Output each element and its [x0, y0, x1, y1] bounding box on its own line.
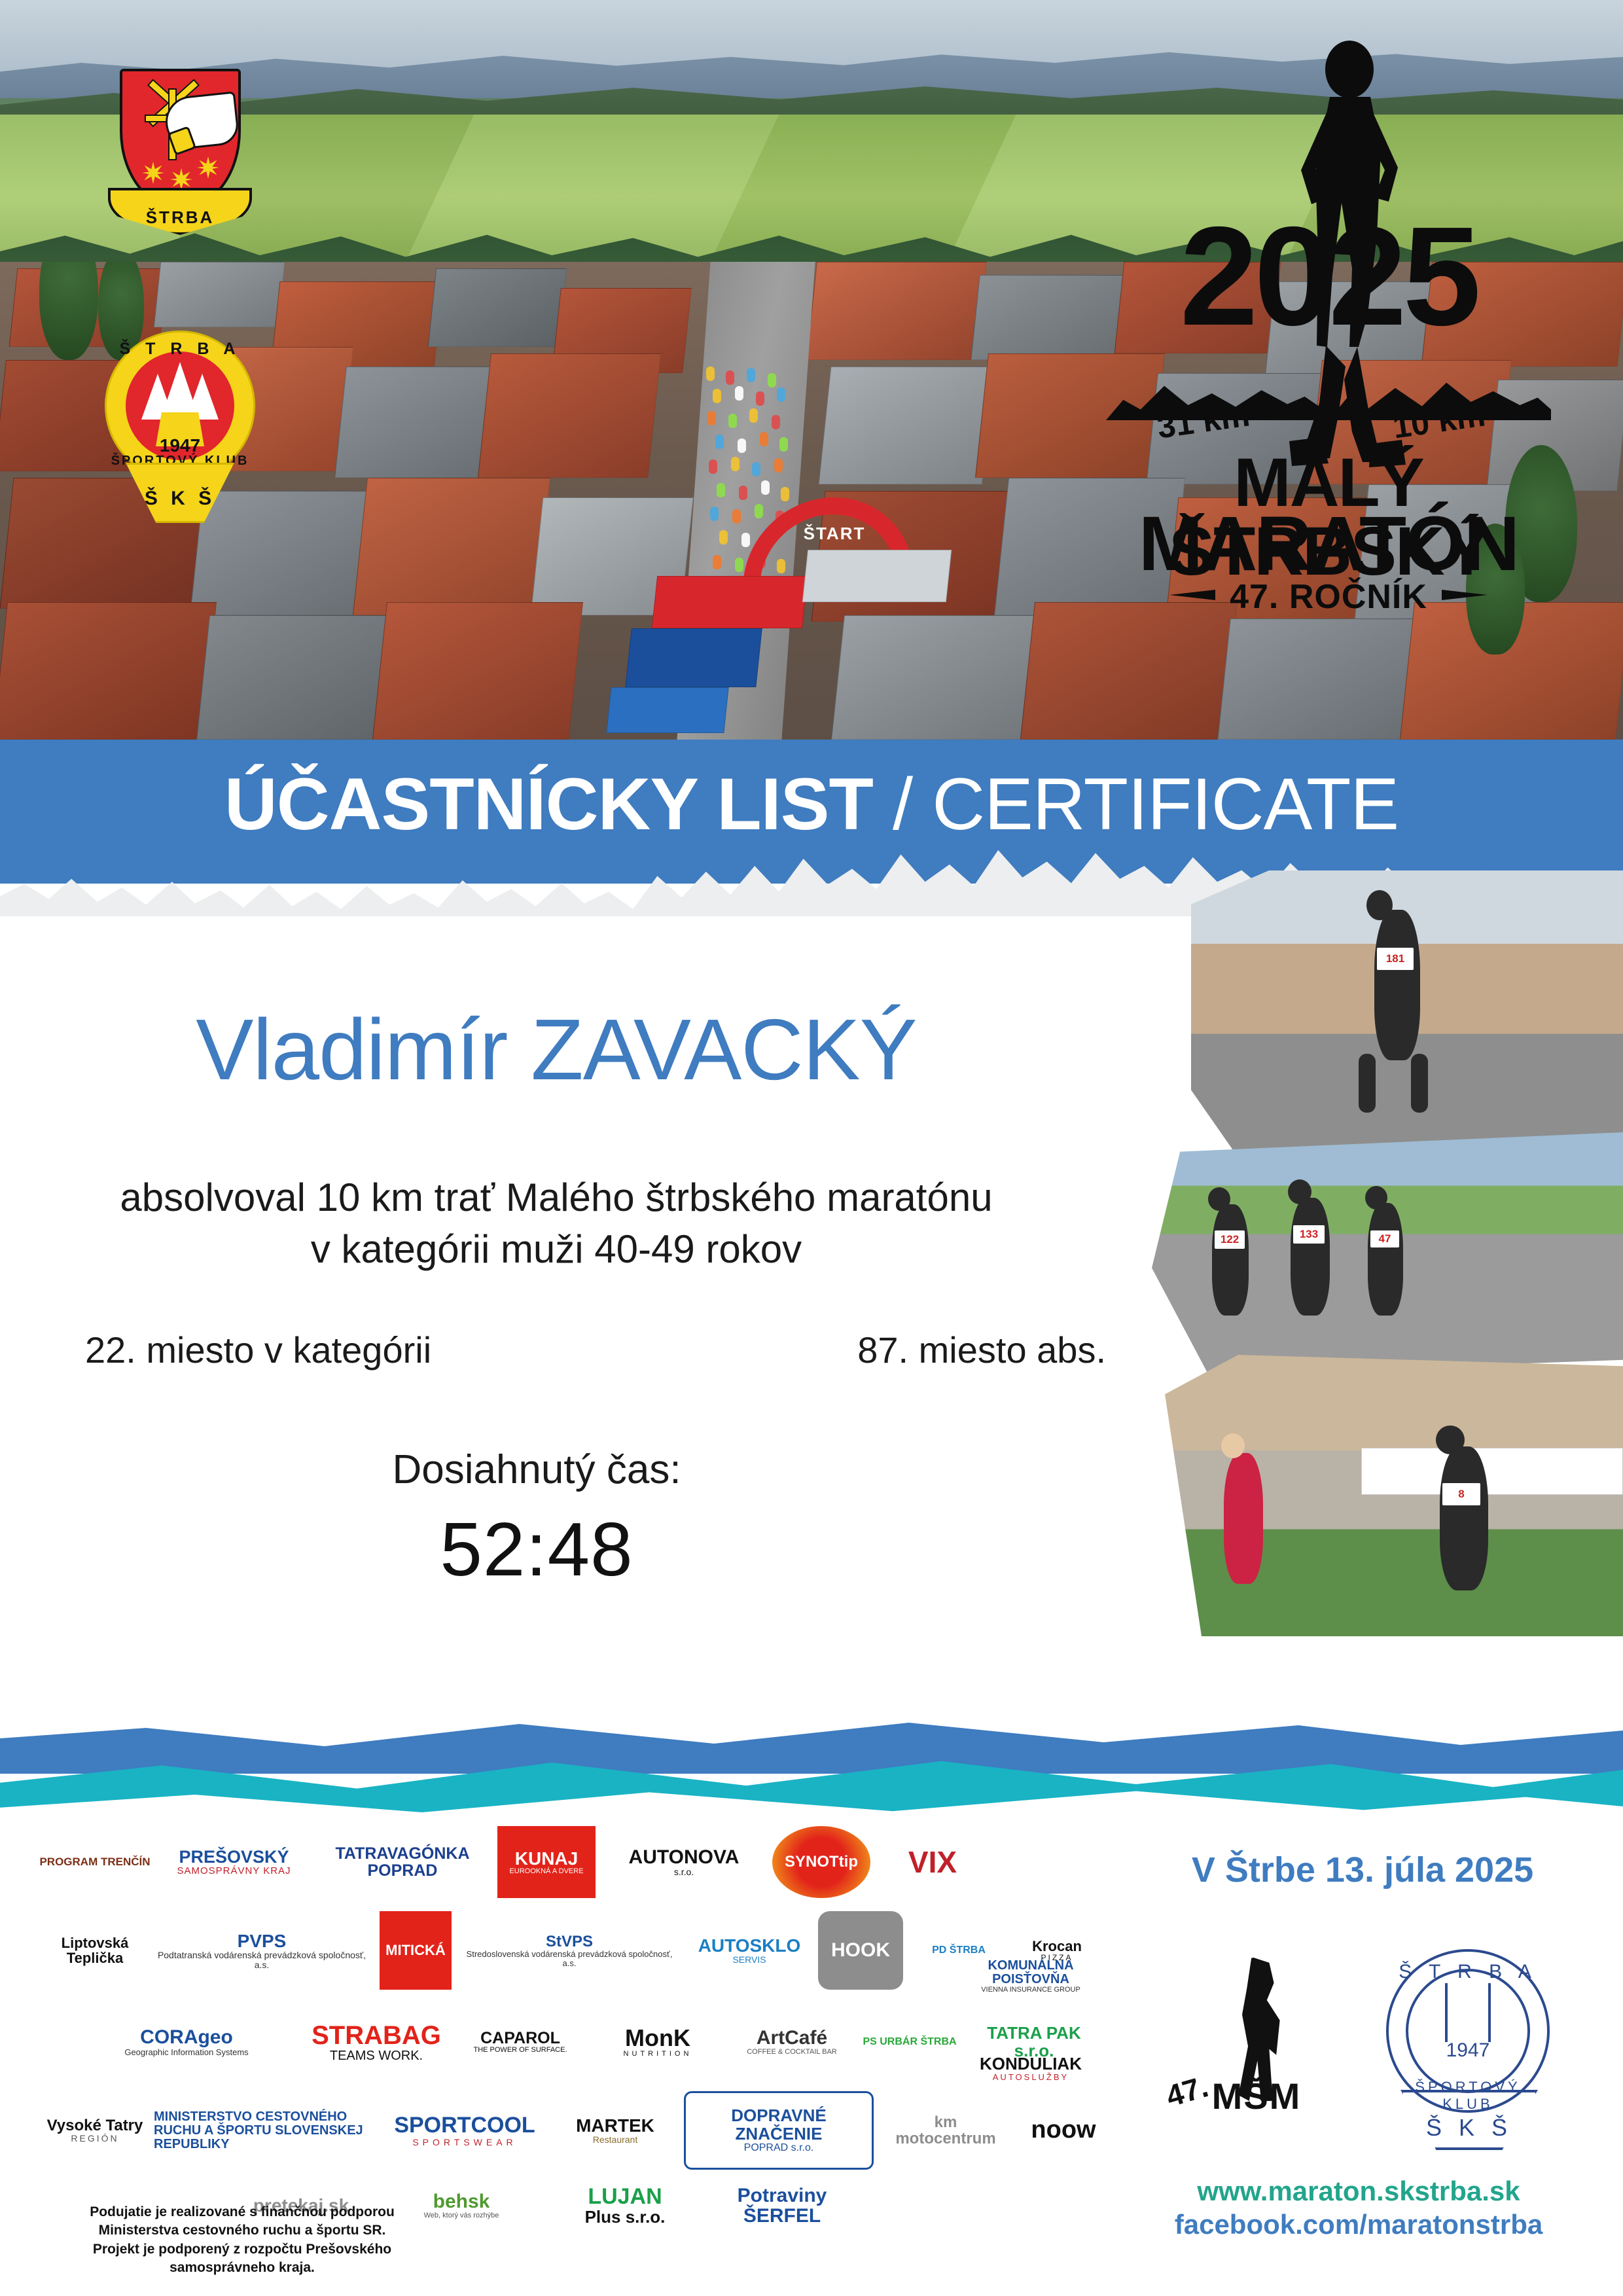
description-line-2: v kategórii muži 40-49 rokov	[0, 1223, 1113, 1275]
sponsor-logo: Vysoké Tatry REGIÓN	[39, 2091, 151, 2170]
sponsor-logo: LUJAN Plus s.r.o.	[556, 2176, 694, 2235]
title-banner: ÚČASTNÍCKY LIST / CERTIFICATE	[0, 740, 1623, 884]
sponsor-logo: STRABAG TEAMS WORK.	[301, 2003, 452, 2081]
race-photo-collage: 181 122 133 47 8	[1152, 870, 1623, 1702]
fineprint-line-1: Podujatie je realizované s finančnou pod…	[39, 2203, 445, 2221]
sponsor-logo: SPORTCOOL SPORTSWEAR	[386, 2091, 543, 2170]
msm-emblem: 47. MŠM	[1158, 1950, 1355, 2147]
sponsor-logo: AUTONOVA s.r.o.	[605, 1826, 762, 1898]
photo-finish-female-runner: 181	[1191, 870, 1623, 1152]
sponsor-logo: CORAgeo Geographic Information Systems	[79, 2003, 294, 2081]
website-link[interactable]: www.maraton.skstrba.sk	[1136, 2174, 1581, 2208]
time-label: Dosiahnutý čas:	[0, 1446, 1073, 1493]
hero-photo-village-start: ŠTART ŠTRBA Š T R B A	[0, 0, 1623, 740]
achievement-description: absolvoval 10 km trať Malého štrbského m…	[0, 1172, 1113, 1275]
certificate-page: ŠTART ŠTRBA Š T R B A	[0, 0, 1623, 2296]
finish-time: 52:48	[0, 1505, 1073, 1593]
logo-edition: 47. ROČNÍK	[1099, 577, 1558, 617]
sponsor-logo: VIX	[883, 1826, 982, 1898]
sponsor-grid: PROGRAM TRENČÍN PREŠOVSKÝ SAMOSPRÁVNY KR…	[39, 1820, 1152, 2225]
strba-coat-of-arms: ŠTRBA	[108, 69, 252, 242]
description-line-1: absolvoval 10 km trať Malého štrbského m…	[0, 1172, 1113, 1223]
sponsor-logo: StVPS Stredoslovenská vodárenská prevádz…	[461, 1911, 677, 1990]
tent-red	[652, 576, 808, 628]
sponsor-logo: KONDULIAK AUTOSLUŽBY	[955, 2045, 1106, 2091]
fineprint-line-2: Ministerstva cestovného ruchu a športu S…	[39, 2221, 445, 2240]
sponsor-logo: AUTOSKLO SERVIS	[687, 1911, 811, 1990]
sponsor-logo: HOOK	[818, 1911, 903, 1990]
sponsor-logo: MARTEK Restaurant	[556, 2091, 674, 2170]
stamp-year: 1947	[1406, 2039, 1530, 2062]
coat-name-label: ŠTRBA	[108, 207, 252, 228]
sks-stamp-emblem: Š T R B A 1947 ŠPORTOVÝ KLUB Š K Š	[1374, 1943, 1564, 2152]
sponsor-logo: PREŠOVSKÝ SAMOSPRÁVNY KRAJ	[154, 1826, 314, 1898]
sponsor-logo: ArtCafé COFFEE & COCKTAIL BAR	[730, 2003, 854, 2081]
msm-abbrev: MŠM	[1158, 2075, 1355, 2117]
sponsor-logo: PVPS Podtatranská vodárenská prevádzková…	[154, 1911, 370, 1990]
facebook-link[interactable]: facebook.com/maratonstrba	[1136, 2208, 1581, 2241]
title-separator: /	[873, 763, 932, 845]
logo-line-2: MARATÓN	[1099, 505, 1558, 583]
tent-blue-2	[606, 687, 728, 733]
sponsor-logo: PROGRAM TRENČÍN	[39, 1826, 151, 1898]
sponsor-logo: KUNAJ EUROOKNÁ A DVERE	[497, 1826, 596, 1898]
sponsor-logo: Liptovská Teplička	[39, 1911, 151, 1990]
sponsor-logo: Potraviny ŠERFEL	[700, 2176, 864, 2235]
event-date: V Štrbe 13. júla 2025	[1153, 1850, 1572, 1890]
sponsor-logo: TATRAVAGÓNKA POPRAD	[317, 1826, 488, 1898]
sponsor-logo: CAPAROL THE POWER OF SURFACE.	[458, 2003, 582, 2081]
tent-blue	[625, 628, 762, 687]
placement-row: 22. miesto v kategórii 87. miesto abs.	[85, 1329, 1106, 1371]
photo-runners-group: 122 133 47	[1152, 1132, 1623, 1374]
place-in-category: 22. miesto v kategórii	[85, 1329, 431, 1371]
participant-name: Vladimír ZAVACKÝ	[0, 1000, 1113, 1099]
sponsor-logo: MonK NUTRITION	[592, 2003, 723, 2081]
club-top-arc: Š T R B A	[105, 340, 255, 359]
fineprint-line-3: Projekt je podporený z rozpočtu Prešovsk…	[39, 2240, 445, 2278]
title-bold: ÚČASTNÍCKY LIST	[224, 763, 873, 845]
sponsor-logo: MINISTERSTVO CESTOVNÉHO RUCHU A ŠPORTU S…	[154, 2091, 376, 2170]
stamp-top-arc: Š T R B A	[1386, 1961, 1550, 1983]
sponsor-logo: PS URBÁR ŠTRBA	[861, 2003, 959, 2081]
club-abbrev: Š K Š	[126, 488, 234, 510]
tent-white	[802, 550, 952, 602]
place-absolute: 87. miesto abs.	[857, 1329, 1106, 1371]
certificate-title: ÚČASTNÍCKY LIST / CERTIFICATE	[0, 762, 1623, 846]
sponsor-logo: noow	[1014, 2091, 1113, 2170]
photo-finish-line-male-runner: 8	[1165, 1355, 1623, 1636]
sponsor-logo: KOMUNÁLNA POISŤOVŇA VIENNA INSURANCE GRO…	[955, 1954, 1106, 2000]
funding-fineprint: Podujatie je realizované s finančnou pod…	[39, 2203, 445, 2277]
wave-blue	[0, 1708, 1623, 1774]
title-thin: CERTIFICATE	[932, 763, 1399, 845]
contact-links: www.maraton.skstrba.sk facebook.com/mara…	[1136, 2174, 1581, 2241]
footer-emblems: 47. MŠM Š T R B A 1947 ŠPORTOVÝ KLUB Š K…	[1152, 1937, 1584, 2153]
sponsor-logo: km motocentrum	[883, 2091, 1008, 2170]
sponsor-logo: DOPRAVNÉ ZNAČENIE POPRAD s.r.o.	[684, 2091, 874, 2170]
logo-year: 2025	[1099, 209, 1558, 343]
start-arch-label: ŠTART	[789, 524, 880, 544]
sponsor-logo: SYNOTtip	[772, 1826, 870, 1898]
distance-row: 31 km 10 km	[1099, 367, 1558, 445]
sponsor-logo: MITICKÁ	[380, 1911, 452, 1990]
sports-club-logo: Š T R B A 1947 ŠPORTOVÝ KLUB Š K Š	[98, 324, 262, 533]
marathon-logo: 2025 31 km 10 km MALÝ ŠTRBSKÝ MARATÓN 47…	[1099, 39, 1558, 583]
stamp-abbrev: Š K Š	[1400, 2114, 1538, 2142]
